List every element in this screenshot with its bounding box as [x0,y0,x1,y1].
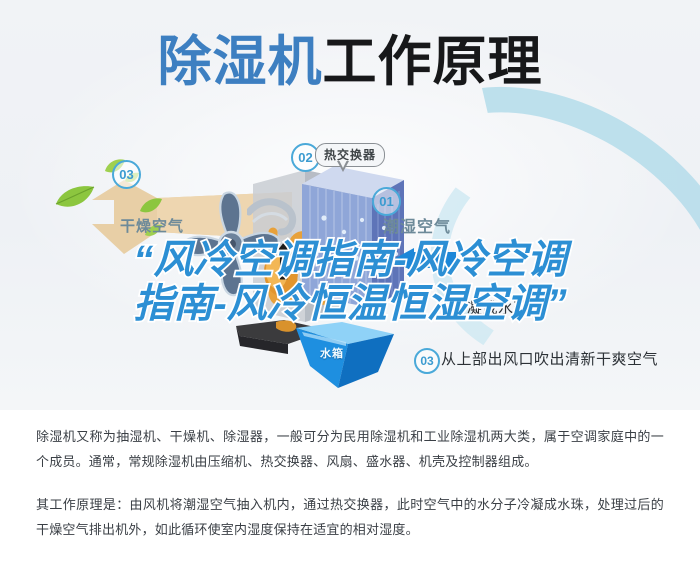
article-paragraph-2: 其工作原理是：由风机将潮湿空气抽入机内，通过热交换器，此时空气中的水分子冷凝成水… [36,492,664,542]
callout-pointer-icon [337,161,349,172]
illustration-panel: 除湿机工作原理 [0,0,700,410]
humid-air-label: 潮湿空气 [383,213,451,237]
page-title-highlight: 除湿机 [158,32,323,92]
heat-exchanger-icon [300,158,408,318]
page-root: 除湿机工作原理 [0,0,700,566]
page-title: 除湿机工作原理 [0,33,700,91]
humid-air-inflow-arrow-icon [392,248,456,272]
article-body: 除湿机又称为抽湿机、干燥机、除湿器，一般可分为民用除湿机和工业除湿机两大类，属于… [0,412,700,566]
article-paragraph-1: 除湿机又称为抽湿机、干燥机、除湿器，一般可分为民用除湿机和工业除湿机两大类，属于… [36,424,664,474]
leaf-icon [139,197,163,216]
water-tank-icon [290,322,400,394]
heat-exchanger-callout: 热交换器 [315,143,385,167]
outlet-note: 从上部出风口吹出清新干爽空气 [441,348,658,369]
condensation-note: 凝成水珠 [467,297,529,318]
page-title-rest: 工作原理 [323,32,543,92]
step-badge-03: 03 [112,160,141,189]
step-badge-03-bottom: 03 [414,348,440,374]
fan-blades-icon [172,186,290,302]
dry-air-label: 干燥空气 [120,215,184,236]
step-badge-01: 01 [372,187,401,216]
leaf-icon [54,184,96,212]
water-tank-label: 水箱 [320,345,344,361]
